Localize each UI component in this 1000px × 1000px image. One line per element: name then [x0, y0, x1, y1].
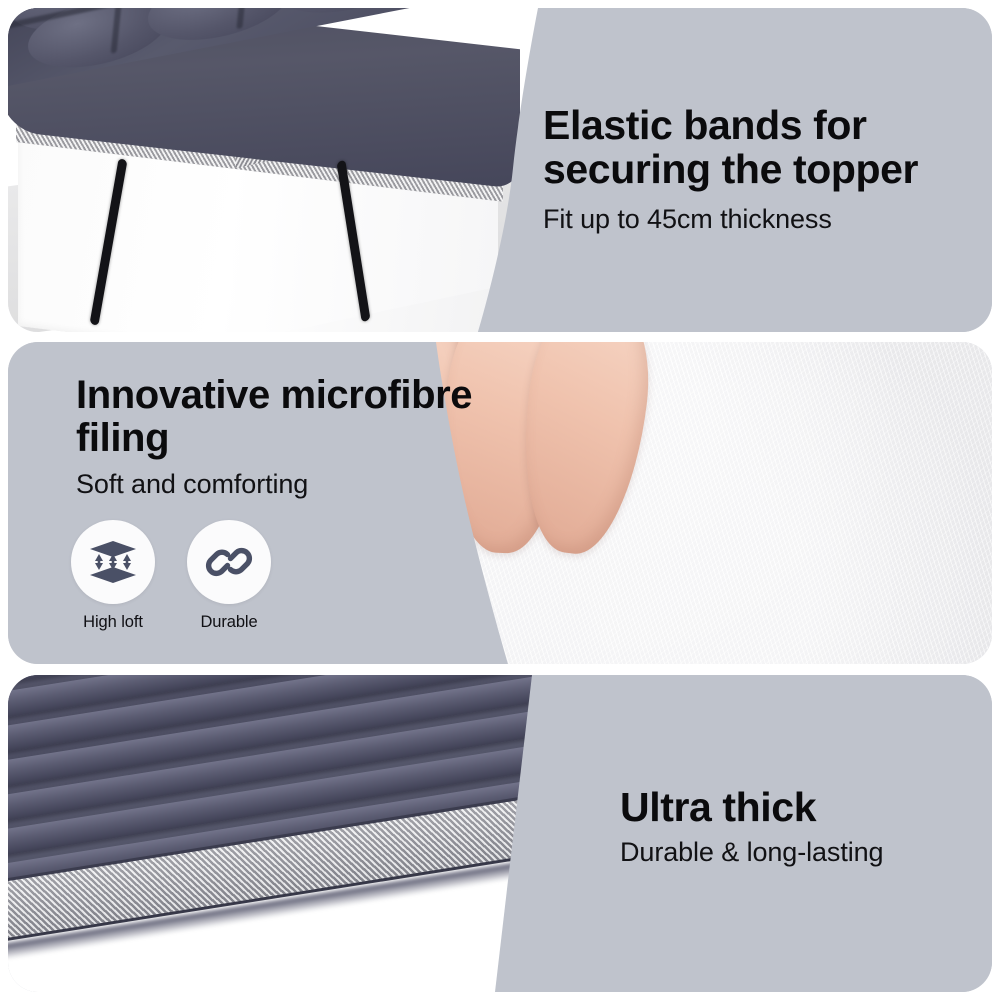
badge-circle: [71, 520, 155, 604]
feature-panel-ultra-thick: Ultra thick Durable & long-lasting: [8, 675, 992, 992]
panel-text-microfibre: Innovative microfibre filing Soft and co…: [76, 374, 476, 500]
feature-badge-high-loft: High loft: [68, 520, 158, 632]
panel-subline: Fit up to 45cm thickness: [543, 204, 983, 235]
feature-panel-elastic-bands: Elastic bands for securing the topper Fi…: [8, 8, 992, 332]
panel-subline: Soft and comforting: [76, 469, 476, 500]
panel-subline: Durable & long-lasting: [620, 837, 980, 868]
panel-headline: Innovative microfibre filing: [76, 374, 476, 460]
feature-panel-board: Elastic bands for securing the topper Fi…: [0, 0, 1000, 1000]
feature-badge-group: High loft Durable: [68, 520, 274, 632]
feature-badge-durable: Durable: [184, 520, 274, 632]
high-loft-icon: [88, 537, 138, 587]
panel-headline: Elastic bands for securing the topper: [543, 103, 983, 192]
badge-label: Durable: [200, 613, 257, 632]
product-photo-quilted-surface: [8, 675, 568, 992]
badge-label: High loft: [83, 613, 143, 632]
badge-circle: [187, 520, 271, 604]
chain-link-icon: [204, 537, 254, 587]
product-photo-mattress-corner: [8, 8, 538, 332]
panel-text-elastic-bands: Elastic bands for securing the topper Fi…: [543, 103, 983, 235]
panel-headline: Ultra thick: [620, 785, 980, 829]
feature-panel-microfibre-filling: Innovative microfibre filing Soft and co…: [8, 342, 992, 664]
panel-text-ultra-thick: Ultra thick Durable & long-lasting: [620, 785, 980, 868]
